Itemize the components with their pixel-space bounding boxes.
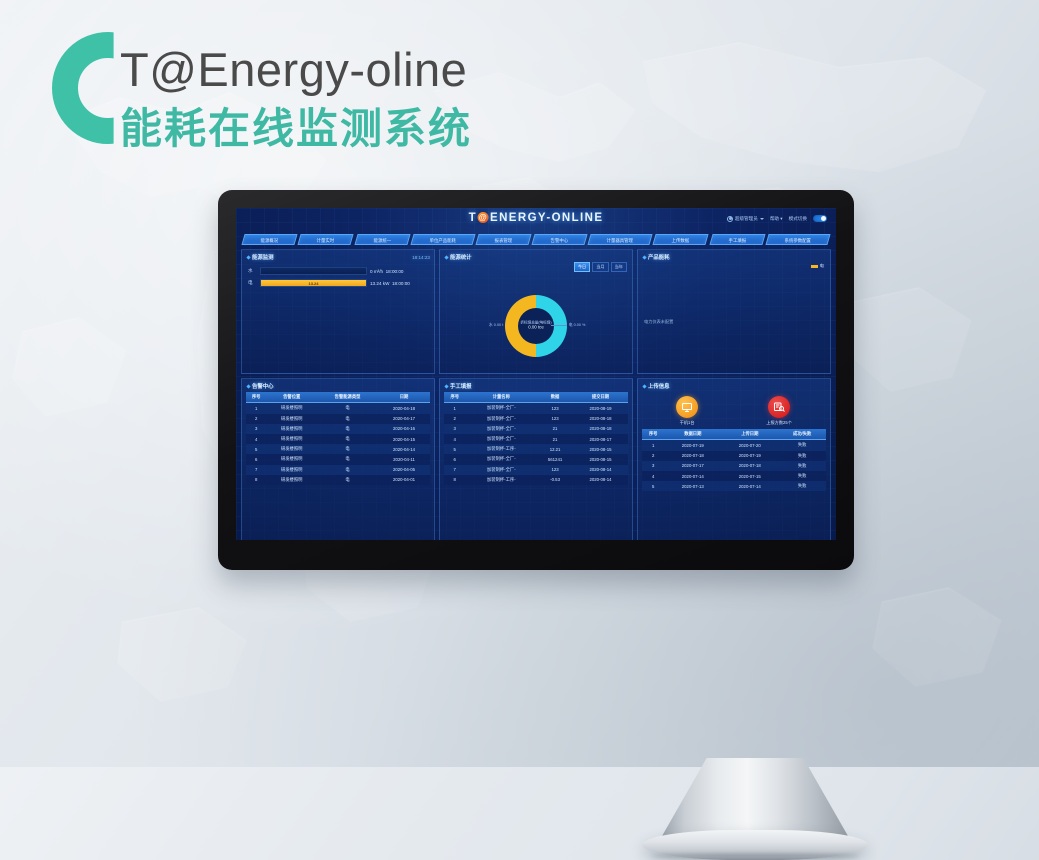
diamond-icon (642, 255, 646, 259)
nav-item-2[interactable]: 能源统一 (354, 234, 410, 245)
nav-item-0[interactable]: 能源概况 (241, 234, 297, 245)
panel-alarm-center: 告警中心 序号告警位置告警能源类型日期 1研发楼照明电2020-04-182研发… (241, 378, 435, 540)
table-row[interactable]: 5加装制杯-工序-12.212020-08-15 (444, 444, 628, 454)
table-cell: 4 (444, 434, 465, 444)
alarm-center-title: 告警中心 (252, 382, 274, 390)
table-cell: 失败 (778, 481, 826, 491)
table-row[interactable]: 52020-07-132020-07-14失败 (642, 481, 826, 491)
product-energy-empty-note: 电力仪表未配置 (644, 319, 673, 325)
main-nav: 能源概况 计量实时 能源统一 单位产品能耗 报表管理 告警中心 计量器具管理 上… (241, 234, 831, 245)
table-cell: 加装制杯-全厂- (465, 434, 537, 444)
table-row[interactable]: 1研发楼照明电2020-04-18 (246, 403, 430, 414)
table-cell: 2020-07-14 (664, 471, 721, 481)
table-cell: 1 (642, 440, 664, 451)
table-cell: 电 (317, 434, 378, 444)
panel-title-upload-info: 上传信息 (642, 381, 826, 392)
column-header: 日期 (378, 392, 430, 403)
table-cell: 2020-08-19 (573, 403, 628, 414)
user-name: 超级管理员 (735, 216, 758, 222)
energy-monitor-time: 18:14:23 (412, 255, 430, 260)
table-cell: 研发楼照明 (266, 454, 317, 464)
table-cell: 6 (444, 454, 465, 464)
table-row[interactable]: 5研发楼照明电2020-04-14 (246, 444, 430, 454)
table-cell: 加装制杯-全厂- (465, 454, 537, 464)
energy-monitor-title: 能源监测 (252, 253, 274, 261)
column-header: 上传日期 (721, 429, 778, 440)
table-cell: 2020-08-17 (573, 434, 628, 444)
table-cell: 123 (537, 414, 573, 424)
table-cell: 3 (246, 424, 266, 434)
table-cell: 2 (246, 414, 266, 424)
logo-suffix: ENERGY-ONLINE (490, 212, 603, 224)
dashboard: T@ENERGY-ONLINE 超级管理员 帮助 ▾ 模式切换 能 (236, 208, 836, 540)
upload-stat-1: 上报方数25个 (766, 396, 792, 426)
dashboard-topbar: T@ENERGY-ONLINE 超级管理员 帮助 ▾ 模式切换 (241, 211, 831, 233)
table-cell: 2020-07-17 (664, 461, 721, 471)
mode-toggle[interactable] (813, 215, 827, 222)
nav-item-9[interactable]: 系统参数配置 (765, 234, 830, 245)
table-cell: 加装制杯-工序- (465, 444, 537, 454)
table-cell: 2 (444, 414, 465, 424)
table-cell: 2020-07-19 (664, 440, 721, 451)
logo-at-icon: @ (478, 212, 489, 223)
column-header: 序号 (246, 392, 266, 403)
table-cell: 2 (642, 451, 664, 461)
upload-stats: 干机1台 上报方数25个 (642, 396, 826, 426)
table-cell: 7 (246, 465, 266, 475)
energy-bar-track-0 (260, 267, 367, 275)
table-cell: 5 (642, 481, 664, 491)
table-row[interactable]: 2加装制杯-全厂-1232020-08-18 (444, 414, 628, 424)
table-header-row: 序号告警位置告警能源类型日期 (246, 392, 430, 403)
table-cell: 2020-08-14 (573, 475, 628, 485)
column-header: 数据 (537, 392, 573, 403)
upload-stat-caption-1: 上报方数25个 (766, 420, 792, 426)
table-row[interactable]: 42020-07-142020-07-15失败 (642, 471, 826, 481)
column-header: 告警位置 (266, 392, 317, 403)
dashboard-logo: T@ENERGY-ONLINE (469, 212, 604, 224)
brand-header: T@Energy-oline 能耗在线监测系统 (52, 24, 612, 164)
column-header: 成功/失败 (778, 429, 826, 440)
panel-manual-entry: 手工填报 序号计量名称数据提交日期 1加装制杯-全厂-1232020-08-19… (439, 378, 633, 540)
monitor-stand-neck (662, 758, 848, 836)
nav-label-5: 告警中心 (534, 235, 585, 245)
column-header: 计量名称 (465, 392, 537, 403)
table-cell: 2020-08-15 (573, 454, 628, 464)
table-row[interactable]: 1加装制杯-全厂-1232020-08-19 (444, 403, 628, 414)
column-header: 告警能源类型 (317, 392, 378, 403)
nav-item-6[interactable]: 计量器具管理 (588, 234, 653, 245)
panel-title-product-energy: 产品能耗 (642, 252, 826, 263)
table-row[interactable]: 32020-07-172020-07-18失败 (642, 461, 826, 471)
table-cell: 研发楼照明 (266, 475, 317, 485)
nav-label-7: 上传数据 (655, 235, 706, 245)
product-energy-legend: 电 (811, 263, 824, 269)
table-cell: 2020-07-18 (721, 461, 778, 471)
manual-entry-table: 序号计量名称数据提交日期 1加装制杯-全厂-1232020-08-192加装制杯… (444, 392, 628, 485)
table-cell: 2020-07-20 (721, 440, 778, 451)
table-cell: 失败 (778, 461, 826, 471)
table-cell: 3 (642, 461, 664, 471)
nav-item-5[interactable]: 告警中心 (532, 234, 588, 245)
table-cell: 8 (444, 475, 465, 485)
table-row[interactable]: 7加装制杯-全厂-1232020-08-14 (444, 465, 628, 475)
table-body: 1研发楼照明电2020-04-182研发楼照明电2020-04-173研发楼照明… (246, 403, 430, 485)
energy-stats-title: 能源统计 (450, 253, 472, 261)
table-cell: 6 (246, 454, 266, 464)
legend-swatch-icon (811, 265, 818, 268)
table-cell: 电 (317, 414, 378, 424)
chevron-down-icon (760, 218, 764, 220)
table-cell: 5 (444, 444, 465, 454)
table-body: 1加装制杯-全厂-1232020-08-192加装制杯-全厂-1232020-0… (444, 403, 628, 485)
table-cell: 2020-04-16 (378, 424, 430, 434)
table-cell: 研发楼照明 (266, 444, 317, 454)
table-cell: 加装制杯-全厂- (465, 465, 537, 475)
table-cell: 电 (317, 475, 378, 485)
monitor-stand-base (642, 830, 868, 860)
user-icon (727, 216, 733, 222)
table-row[interactable]: 8研发楼照明电2020-04-01 (246, 475, 430, 485)
column-header: 序号 (444, 392, 465, 403)
monitor-bezel: T@ENERGY-ONLINE 超级管理员 帮助 ▾ 模式切换 能 (218, 190, 854, 570)
table-cell: 电 (317, 465, 378, 475)
panel-title-manual-entry: 手工填报 (444, 381, 628, 392)
table-cell: 123 (537, 403, 573, 414)
nav-item-3[interactable]: 单位产品能耗 (410, 234, 475, 245)
table-row[interactable]: 8加装制杯-工序--0.532020-08-14 (444, 475, 628, 485)
table-cell: 2020-04-17 (378, 414, 430, 424)
table-cell: 失败 (778, 440, 826, 451)
table-cell: 123 (537, 465, 573, 475)
upload-stat-caption-0: 干机1台 (676, 420, 698, 426)
table-cell: 2020-07-19 (721, 451, 778, 461)
table-row[interactable]: 12020-07-192020-07-20失败 (642, 440, 826, 451)
manual-entry-title: 手工填报 (450, 382, 472, 390)
table-row[interactable]: 3加装制杯-全厂-212020-08-18 (444, 424, 628, 434)
nav-item-8[interactable]: 手工填报 (709, 234, 765, 245)
table-cell: 4 (246, 434, 266, 444)
device-icon (676, 396, 698, 418)
table-cell: 电 (317, 424, 378, 434)
alarm-center-table: 序号告警位置告警能源类型日期 1研发楼照明电2020-04-182研发楼照明电2… (246, 392, 430, 485)
logo-prefix: T (469, 212, 477, 224)
table-row[interactable]: 2研发楼照明电2020-04-17 (246, 414, 430, 424)
table-cell: 2020-07-18 (664, 451, 721, 461)
table-cell: 加装制杯-全厂- (465, 424, 537, 434)
upload-info-title: 上传信息 (648, 382, 670, 390)
topbar-right: 超级管理员 帮助 ▾ 模式切换 (727, 215, 827, 222)
table-cell: 2020-04-18 (378, 403, 430, 414)
table-row[interactable]: 4研发楼照明电2020-04-15 (246, 434, 430, 444)
nav-label-9: 系统参数配置 (768, 235, 828, 245)
nav-label-2: 能源统一 (356, 235, 407, 245)
donut-chart: 水 0.00 t 折标煤总量(吨标煤) 0.00 tce 电 0.00 % (444, 263, 628, 374)
table-cell: 3 (444, 424, 465, 434)
table-cell: 2020-04-15 (378, 434, 430, 444)
diamond-icon (642, 384, 646, 388)
brand-logo-icon (52, 32, 114, 144)
nav-label-1: 计量实时 (300, 235, 351, 245)
diamond-icon (444, 255, 448, 259)
table-cell: 21 (537, 424, 573, 434)
table-cell: 研发楼照明 (266, 465, 317, 475)
table-cell: 电 (317, 444, 378, 454)
table-cell: 5 (246, 444, 266, 454)
table-row[interactable]: 7研发楼照明电2020-04-05 (246, 465, 430, 475)
mode-toggle-label: 模式切换 (789, 216, 807, 222)
table-cell: 561241 (537, 454, 573, 464)
energy-bar-track-1: 13.24 (260, 279, 367, 287)
table-cell: 1 (246, 403, 266, 414)
table-cell: 2020-04-11 (378, 454, 430, 464)
table-cell: 失败 (778, 471, 826, 481)
dashboard-grid: 能源监测 18:14:23 水 0 m³/h 18:00:00 电 (241, 249, 831, 540)
energy-row-label-1: 电 (248, 280, 257, 286)
table-cell: 电 (317, 403, 378, 414)
table-cell: -0.53 (537, 475, 573, 485)
table-cell: 电 (317, 454, 378, 464)
table-cell: 2020-08-15 (573, 444, 628, 454)
table-row[interactable]: 6加装制杯-全厂-5612412020-08-15 (444, 454, 628, 464)
diamond-icon (246, 255, 250, 259)
table-header-row: 序号数据日期上传日期成功/失败 (642, 429, 826, 440)
energy-row-label-0: 水 (248, 268, 257, 274)
donut-label-right: 电 0.00 % (551, 323, 586, 328)
table-row[interactable]: 3研发楼照明电2020-04-16 (246, 424, 430, 434)
upload-stat-0: 干机1台 (676, 396, 698, 426)
donut-center-value: 0.00 tce (520, 325, 551, 331)
monitor-screen: T@ENERGY-ONLINE 超级管理员 帮助 ▾ 模式切换 能 (236, 208, 836, 540)
table-cell: 研发楼照明 (266, 434, 317, 444)
table-cell: 12.21 (537, 444, 573, 454)
diamond-icon (444, 384, 448, 388)
table-cell: 4 (642, 471, 664, 481)
panel-upload-info: 上传信息 干机1台 (637, 378, 831, 540)
panel-energy-stats: 能源统计 今日 当月 当年 水 0.00 t (439, 249, 633, 374)
table-cell: 2020-07-13 (664, 481, 721, 491)
nav-label-4: 报表管理 (478, 235, 529, 245)
table-cell: 21 (537, 434, 573, 444)
panel-title-energy-monitor: 能源监测 18:14:23 (246, 252, 430, 263)
table-header-row: 序号计量名称数据提交日期 (444, 392, 628, 403)
table-cell: 研发楼照明 (266, 403, 317, 414)
table-cell: 7 (444, 465, 465, 475)
table-cell: 加装制杯-工序- (465, 475, 537, 485)
brand-title: T@Energy-oline (120, 46, 467, 93)
legend-label: 电 (820, 263, 824, 269)
report-search-icon (768, 396, 790, 418)
energy-row-water: 水 0 m³/h 18:00:00 (248, 267, 428, 275)
table-cell: 2020-04-01 (378, 475, 430, 485)
donut-center-text: 折标煤总量(吨标煤) 0.00 tce (520, 320, 551, 331)
table-cell: 2020-08-14 (573, 465, 628, 475)
table-cell: 2020-04-14 (378, 444, 430, 454)
help-menu[interactable]: 帮助 ▾ (770, 216, 783, 222)
table-cell: 2020-07-14 (721, 481, 778, 491)
nav-label-8: 手工填报 (711, 235, 762, 245)
panel-title-alarm-center: 告警中心 (246, 381, 430, 392)
table-cell: 2020-08-18 (573, 424, 628, 434)
nav-label-0: 能源概况 (244, 235, 295, 245)
table-cell: 2020-08-18 (573, 414, 628, 424)
energy-row-electric: 电 13.24 13.24 kW 18:00:00 (248, 279, 428, 287)
nav-label-6: 计量器具管理 (590, 235, 650, 245)
table-row[interactable]: 22020-07-182020-07-19失败 (642, 451, 826, 461)
nav-label-3: 单位产品能耗 (413, 235, 473, 245)
table-cell: 2020-07-15 (721, 471, 778, 481)
table-row[interactable]: 6研发楼照明电2020-04-11 (246, 454, 430, 464)
table-cell: 加装制杯-全厂- (465, 403, 537, 414)
nav-item-4[interactable]: 报表管理 (475, 234, 531, 245)
panel-energy-monitor: 能源监测 18:14:23 水 0 m³/h 18:00:00 电 (241, 249, 435, 374)
upload-info-table: 序号数据日期上传日期成功/失败 12020-07-192020-07-20失败2… (642, 429, 826, 491)
energy-bar-fill-1: 13.24 (261, 280, 366, 286)
column-header: 序号 (642, 429, 664, 440)
diamond-icon (246, 384, 250, 388)
nav-item-7[interactable]: 上传数据 (653, 234, 709, 245)
panel-product-energy: 产品能耗 电 电力仪表未配置 (637, 249, 831, 374)
brand-subtitle: 能耗在线监测系统 (120, 108, 472, 150)
energy-row-value-1: 13.24 kW 18:00:00 (370, 281, 428, 286)
column-header: 提交日期 (573, 392, 628, 403)
table-cell: 加装制杯-全厂- (465, 414, 537, 424)
table-cell: 1 (444, 403, 465, 414)
table-cell: 2020-04-05 (378, 465, 430, 475)
column-header: 数据日期 (664, 429, 721, 440)
table-cell: 8 (246, 475, 266, 485)
nav-item-1[interactable]: 计量实时 (298, 234, 354, 245)
table-row[interactable]: 4加装制杯-全厂-212020-08-17 (444, 434, 628, 444)
table-cell: 失败 (778, 451, 826, 461)
user-menu[interactable]: 超级管理员 (727, 216, 764, 222)
monitor: T@ENERGY-ONLINE 超级管理员 帮助 ▾ 模式切换 能 (218, 190, 854, 570)
table-body: 12020-07-192020-07-20失败22020-07-182020-0… (642, 440, 826, 491)
table-cell: 研发楼照明 (266, 424, 317, 434)
table-cell: 研发楼照明 (266, 414, 317, 424)
energy-row-value-0: 0 m³/h 18:00:00 (370, 269, 428, 274)
product-energy-title: 产品能耗 (648, 253, 670, 261)
